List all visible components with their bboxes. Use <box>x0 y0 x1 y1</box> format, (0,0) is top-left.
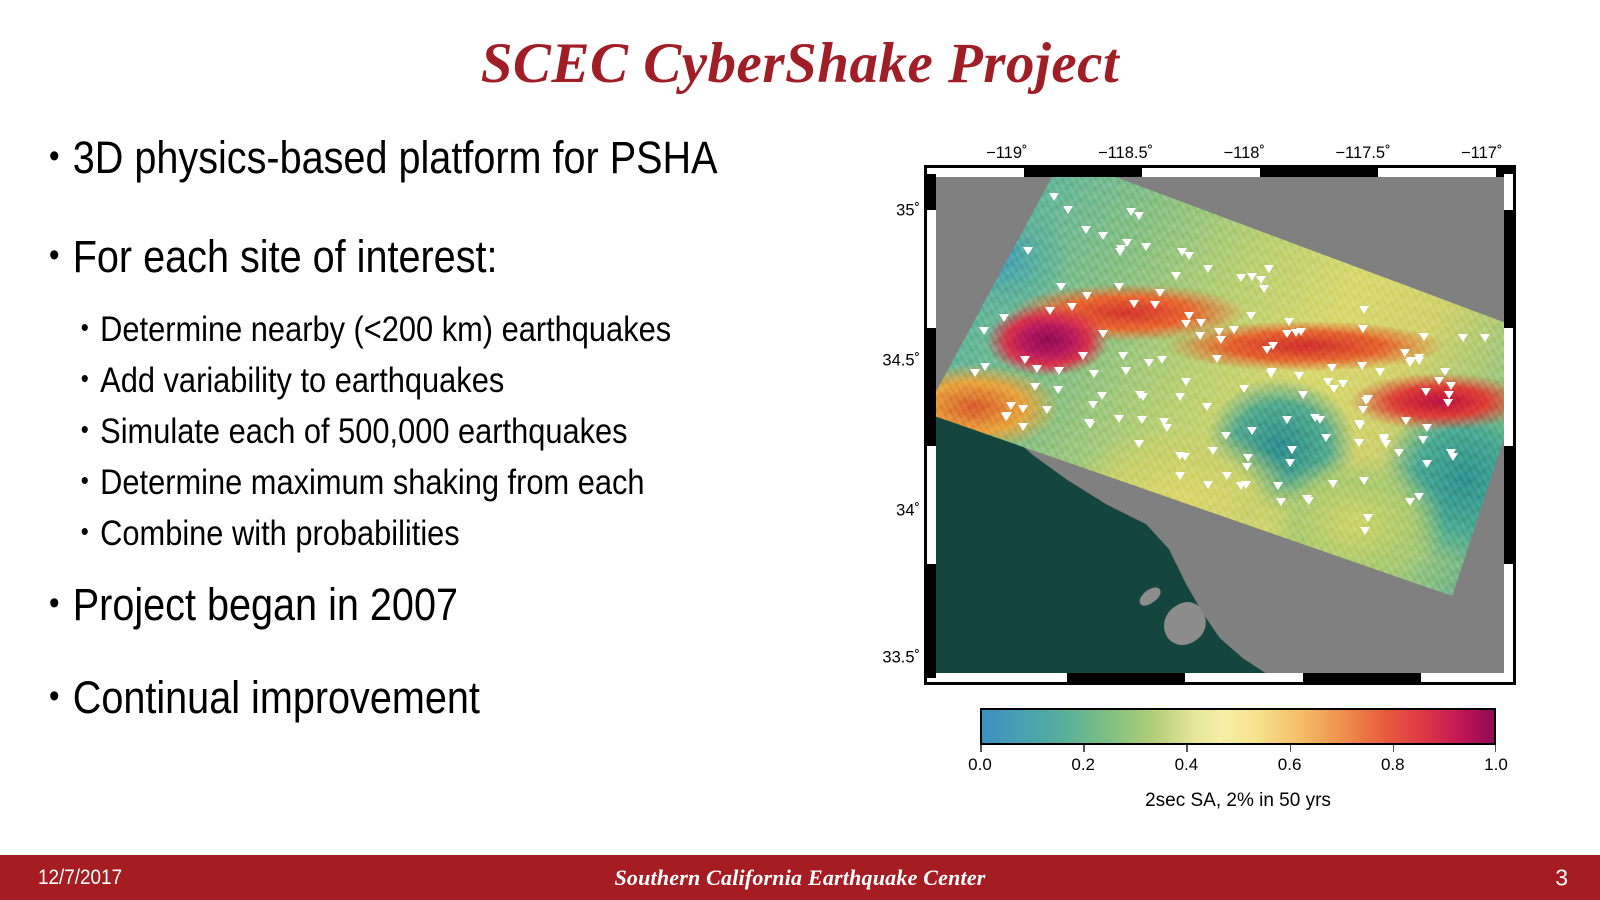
bullet-marker-icon: • <box>81 416 89 442</box>
site-marker <box>1243 454 1253 462</box>
sub-bullet-item: • Add variability to earthquakes <box>42 361 772 401</box>
page-title: SCEC CyberShake Project <box>0 34 1600 94</box>
site-marker <box>1216 336 1226 344</box>
bullet-text: For each site of interest: <box>73 231 498 283</box>
lat-tick-label: 33.5˚ <box>882 649 920 668</box>
site-marker <box>1129 300 1139 308</box>
site-marker <box>1171 272 1181 280</box>
bullet-marker-icon: • <box>49 139 59 173</box>
site-marker <box>1150 301 1160 309</box>
site-marker <box>1440 368 1450 376</box>
bullet-item: • Project began in 2007 <box>42 579 772 631</box>
lon-tick-label: −118.5˚ <box>1098 144 1153 163</box>
spacer <box>42 658 872 672</box>
site-marker <box>1379 436 1389 444</box>
site-marker <box>1480 334 1490 342</box>
site-marker <box>1448 453 1458 461</box>
site-marker <box>1354 439 1364 447</box>
site-marker <box>1400 349 1410 357</box>
bullet-marker-icon: • <box>49 679 59 713</box>
site-marker <box>1078 352 1088 360</box>
site-marker <box>1175 452 1185 460</box>
latitude-axis: 35˚ 34.5˚ 34˚ 33.5˚ <box>866 168 928 668</box>
site-marker <box>1134 440 1144 448</box>
site-marker <box>999 314 1009 322</box>
site-marker <box>1006 402 1016 410</box>
site-marker <box>1018 405 1028 413</box>
bullet-marker-icon: • <box>81 365 89 391</box>
site-marker <box>1327 364 1337 372</box>
site-marker <box>1394 449 1404 457</box>
slide-footer: 12/7/2017 Southern California Earthquake… <box>0 855 1600 900</box>
site-marker <box>1053 386 1063 394</box>
lat-tick-label: 34˚ <box>896 501 920 520</box>
map-frame <box>924 165 1516 685</box>
bullet-marker-icon: • <box>81 314 89 340</box>
site-marker <box>1135 391 1145 399</box>
bullet-text: Project began in 2007 <box>73 579 458 631</box>
spacer <box>42 565 872 579</box>
site-marker <box>1405 498 1415 506</box>
site-marker <box>1357 362 1367 370</box>
site-marker <box>1304 497 1314 505</box>
colorbar-group: 0.0 0.2 0.4 0.6 0.8 1.0 2sec SA, 2% in 5… <box>980 708 1496 812</box>
sub-bullet-text: Determine nearby (<200 km) earthquakes <box>100 310 671 350</box>
site-marker <box>1294 372 1304 380</box>
site-marker <box>1196 319 1206 327</box>
site-marker <box>1458 334 1468 342</box>
colorbar <box>980 708 1496 745</box>
sub-bullet-text: Determine maximum shaking from each <box>100 463 644 503</box>
site-marker <box>1181 378 1191 386</box>
site-marker <box>1118 352 1128 360</box>
site-marker <box>1246 312 1256 320</box>
site-marker <box>1239 385 1249 393</box>
site-marker <box>1401 417 1411 425</box>
site-marker <box>1030 383 1040 391</box>
colorbar-tick-label: 0.0 <box>968 755 992 775</box>
site-marker <box>1375 368 1385 376</box>
site-marker <box>1195 332 1205 340</box>
site-marker <box>1134 212 1144 220</box>
site-marker <box>1054 367 1064 375</box>
site-marker <box>1321 434 1331 442</box>
site-marker <box>1175 472 1185 480</box>
site-marker <box>1202 403 1212 411</box>
site-marker <box>1203 481 1213 489</box>
map-canvas[interactable] <box>936 177 1504 673</box>
site-marker <box>1287 446 1297 454</box>
site-marker <box>1256 276 1266 284</box>
site-marker <box>1114 283 1124 291</box>
figure-caption: 2sec SA, 2% in 50 yrs <box>980 790 1496 812</box>
lat-tick-label: 35˚ <box>896 201 920 220</box>
footer-organization: Southern California Earthquake Center <box>0 865 1600 891</box>
site-marker <box>1082 292 1092 300</box>
site-marker <box>1042 406 1052 414</box>
lon-tick-label: −117.5˚ <box>1335 144 1390 163</box>
site-marker <box>1020 356 1030 364</box>
sub-bullet-text: Add variability to earthquakes <box>100 361 504 401</box>
site-marker <box>1208 447 1218 455</box>
site-marker <box>1098 330 1108 338</box>
site-marker <box>1298 391 1308 399</box>
sub-bullet-item: • Determine maximum shaking from each <box>42 463 772 503</box>
site-marker <box>1273 482 1283 490</box>
site-marker <box>1018 423 1028 431</box>
footer-page-number: 3 <box>1555 864 1568 891</box>
site-marker <box>1443 399 1453 407</box>
site-marker <box>1081 226 1091 234</box>
sub-bullet-item: • Determine nearby (<200 km) earthquakes <box>42 310 772 350</box>
site-marker <box>1363 395 1373 403</box>
site-marker <box>1315 416 1325 424</box>
site-marker <box>1285 459 1295 467</box>
lon-tick-label: −118˚ <box>1224 144 1265 163</box>
site-marker <box>1141 243 1151 251</box>
site-marker <box>1434 377 1444 385</box>
site-marker <box>1045 307 1055 315</box>
site-marker <box>1363 514 1373 522</box>
spacer <box>42 211 872 231</box>
site-marker <box>1268 342 1278 350</box>
colorbar-tick-label: 1.0 <box>1484 755 1508 775</box>
site-marker <box>1338 380 1348 388</box>
site-marker <box>1023 247 1033 255</box>
colorbar-tick-label: 0.2 <box>1071 755 1095 775</box>
site-marker <box>1214 328 1224 336</box>
site-marker <box>1098 232 1108 240</box>
bullet-marker-icon: • <box>49 238 59 272</box>
site-marker <box>1266 370 1276 378</box>
site-marker <box>1115 248 1125 256</box>
site-marker <box>1406 357 1416 365</box>
site-marker <box>1419 333 1429 341</box>
site-marker <box>1097 392 1107 400</box>
site-marker <box>1421 388 1431 396</box>
site-marker <box>1088 401 1098 409</box>
site-marker <box>1418 436 1428 444</box>
sub-bullet-item: • Combine with probabilities <box>42 514 772 554</box>
site-marker <box>1276 498 1286 506</box>
site-marker <box>1114 415 1124 423</box>
site-marker <box>1284 318 1294 326</box>
site-marker <box>1056 283 1066 291</box>
site-marker <box>1444 391 1454 399</box>
colorbar-tick-label: 0.6 <box>1278 755 1302 775</box>
site-marker <box>1203 265 1213 273</box>
site-marker <box>1157 356 1167 364</box>
lat-tick-label: 34.5˚ <box>882 351 920 370</box>
site-marker <box>1137 416 1147 424</box>
bullet-marker-icon: • <box>81 467 89 493</box>
bullet-text: 3D physics-based platform for PSHA <box>73 132 718 184</box>
bullet-item: • Continual improvement <box>42 672 772 724</box>
site-marker <box>1247 427 1257 435</box>
site-marker <box>1032 365 1042 373</box>
site-marker <box>979 327 989 335</box>
site-marker <box>1049 193 1059 201</box>
site-marker <box>1414 493 1424 501</box>
site-marker <box>1085 421 1095 429</box>
sub-bullet-text: Combine with probabilities <box>100 514 460 554</box>
site-marker <box>1291 329 1301 337</box>
lon-tick-label: −117˚ <box>1461 144 1502 163</box>
colorbar-tick-label: 0.8 <box>1381 755 1405 775</box>
site-marker <box>1328 480 1338 488</box>
site-marker <box>1241 481 1251 489</box>
bullet-list: • 3D physics-based platform for PSHA • F… <box>42 132 872 751</box>
bullet-text: Continual improvement <box>73 672 480 724</box>
colorbar-labels: 0.0 0.2 0.4 0.6 0.8 1.0 <box>980 755 1496 779</box>
site-marker <box>1422 424 1432 432</box>
site-marker <box>1264 265 1274 273</box>
site-marker <box>1212 355 1222 363</box>
site-marker <box>1358 406 1368 414</box>
site-marker <box>1181 320 1191 328</box>
site-marker <box>1446 382 1456 390</box>
site-marker <box>1184 312 1194 320</box>
site-marker <box>1222 472 1232 480</box>
site-marker <box>1184 252 1194 260</box>
site-marker <box>1323 378 1333 386</box>
sub-bullet-text: Simulate each of 500,000 earthquakes <box>100 412 627 452</box>
lon-tick-label: −119˚ <box>986 144 1027 163</box>
site-marker <box>980 363 990 371</box>
bullet-item: • For each site of interest: <box>42 231 772 283</box>
bullet-item: • 3D physics-based platform for PSHA <box>42 132 772 184</box>
site-marker <box>1359 477 1369 485</box>
site-marker <box>1422 460 1432 468</box>
site-marker <box>1063 206 1073 214</box>
site-marker <box>1175 393 1185 401</box>
site-marker <box>1089 370 1099 378</box>
sub-bullet-item: • Simulate each of 500,000 earthquakes <box>42 412 772 452</box>
site-marker <box>1002 412 1012 420</box>
site-marker <box>1122 239 1132 247</box>
site-marker <box>1144 359 1154 367</box>
site-marker <box>1358 325 1368 333</box>
site-marker <box>1242 463 1252 471</box>
hazard-map-figure: −119˚ −118.5˚ −118˚ −117.5˚ −117˚ 35˚ 34… <box>866 140 1566 830</box>
site-marker <box>1236 274 1246 282</box>
bullet-marker-icon: • <box>49 586 59 620</box>
site-marker <box>1121 367 1131 375</box>
bullet-marker-icon: • <box>81 518 89 544</box>
site-marker <box>1282 416 1292 424</box>
site-marker <box>1155 289 1165 297</box>
site-marker <box>1162 424 1172 432</box>
site-marker <box>1359 306 1369 314</box>
site-marker <box>1067 303 1077 311</box>
site-marker <box>1229 326 1239 334</box>
site-marker <box>1259 285 1269 293</box>
site-marker <box>1355 422 1365 430</box>
colorbar-ticks <box>980 745 1496 753</box>
colorbar-tick-label: 0.4 <box>1175 755 1199 775</box>
site-marker <box>1221 432 1231 440</box>
site-marker <box>970 369 980 377</box>
site-marker <box>1360 527 1370 535</box>
